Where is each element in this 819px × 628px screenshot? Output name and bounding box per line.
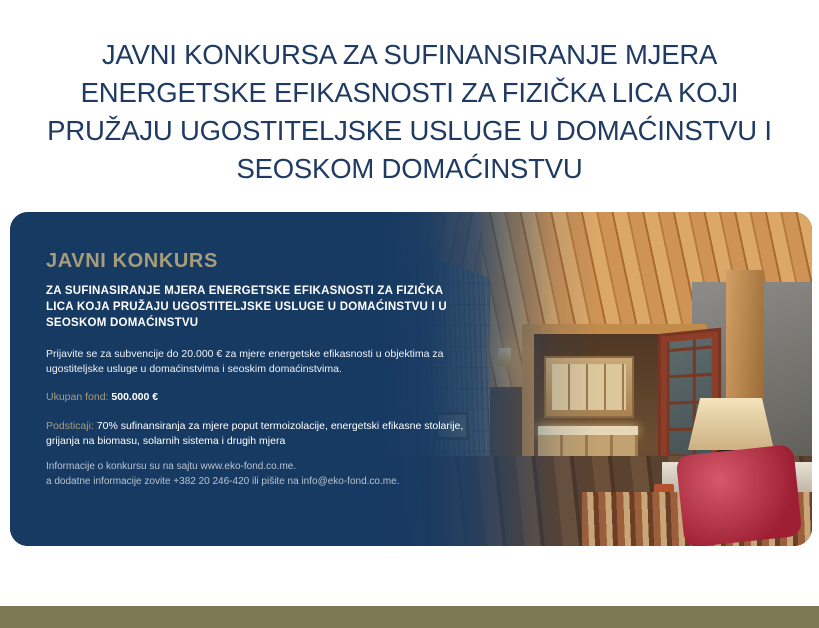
page-title-line-1: JAVNI KONKURSA ZA SUFINANSIRANJE MJERA (0, 36, 819, 74)
contact-line-2: a dodatne informacije zovite +382 20 246… (46, 475, 476, 490)
page-title: JAVNI KONKURSA ZA SUFINANSIRANJE MJERA E… (0, 36, 819, 188)
incentive-value: 70% sufinansiranja za mjere poput termoi… (46, 420, 463, 447)
incentive-label: Podsticaji: (46, 420, 94, 432)
page-title-line-2: ENERGETSKE EFIKASNOSTI ZA FIZIČKA LICA K… (0, 74, 819, 112)
banner-subhead: ZA SUFINASIRANJE MJERA ENERGETSKE EFIKAS… (46, 283, 466, 331)
banner-kicker: JAVNI KONKURS (46, 250, 466, 273)
banner-paragraph: Prijavite se za subvencije do 20.000 € z… (46, 347, 466, 376)
promo-banner: JAVNI KONKURS ZA SUFINASIRANJE MJERA ENE… (10, 212, 812, 546)
page-title-line-4: SEOSKOM DOMAĆINSTVU (0, 150, 819, 188)
footer-olive-bar (0, 606, 819, 628)
incentive-line: Podsticaji: 70% sufinansiranja za mjere … (46, 419, 466, 449)
fund-line: Ukupan fond: 500.000 € (46, 390, 466, 405)
banner-copy: JAVNI KONKURS ZA SUFINASIRANJE MJERA ENE… (46, 250, 466, 463)
page-title-line-3: PRUŽAJU UGOSTITELJSKE USLUGE U DOMAĆINST… (0, 112, 819, 150)
banner-contact: Informacije o konkursu su na sajtu www.e… (46, 460, 476, 489)
fund-value: 500.000 € (111, 391, 158, 403)
fund-label: Ukupan fond: (46, 391, 108, 403)
contact-line-1: Informacije o konkursu su na sajtu www.e… (46, 460, 476, 475)
